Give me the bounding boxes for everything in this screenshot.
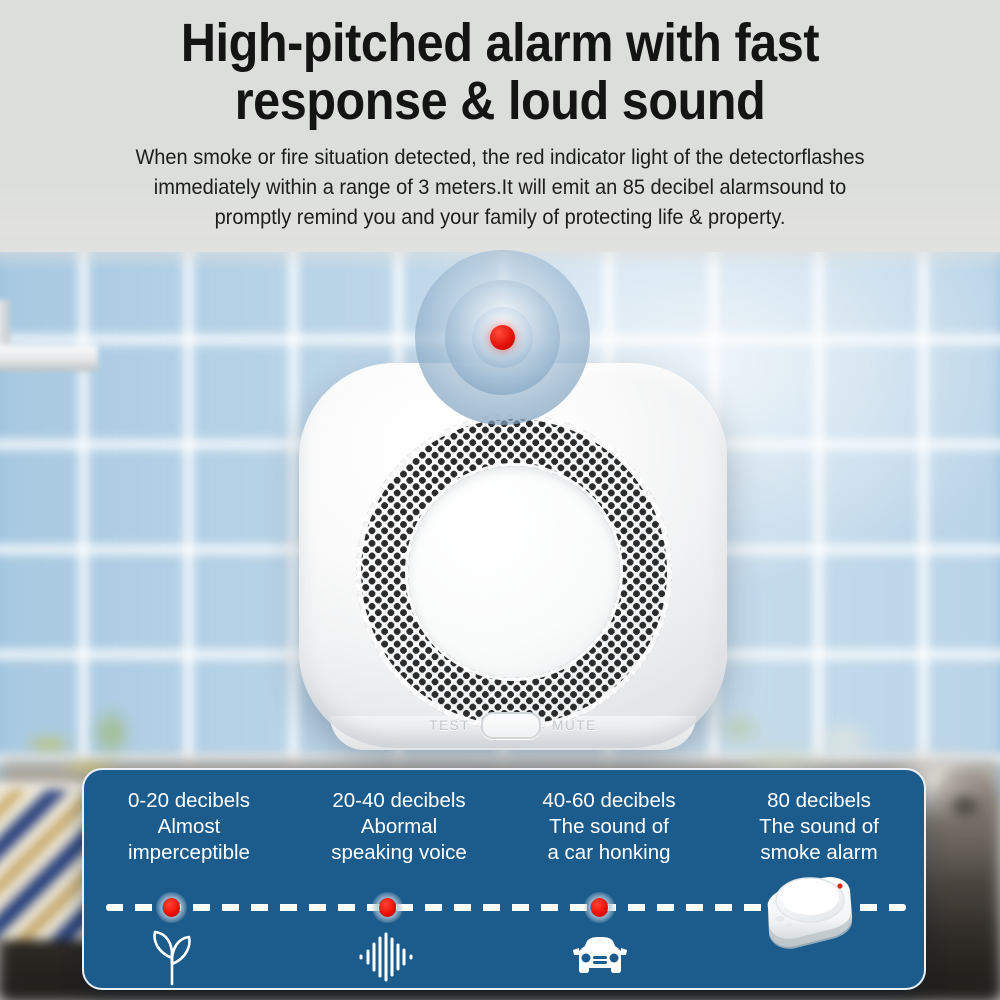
decibel-range-2: 20-40 decibels (294, 788, 504, 814)
decibel-desc-2a: Abormal (294, 814, 504, 840)
red-indicator-light (490, 325, 515, 350)
decibel-timeline (84, 882, 924, 988)
decibel-column-3: 40-60 decibels The sound of a car honkin… (504, 788, 714, 878)
detector-grille (356, 414, 672, 730)
leaf-icon (137, 928, 207, 986)
test-label: TEST (429, 718, 470, 733)
decibel-range-4: 80 decibels (714, 788, 924, 814)
scale-node-1 (156, 892, 187, 923)
detector-center-disc (408, 466, 620, 678)
decibel-column-1: 0-20 decibels Almost imperceptible (84, 788, 294, 878)
decibel-desc-1b: imperceptible (84, 840, 294, 866)
sound-wave-icon (353, 928, 423, 986)
page-title: High-pitched alarm with fast response & … (95, 14, 905, 130)
decibel-scale-panel: 0-20 decibels Almost imperceptible 20-40… (82, 768, 926, 990)
wall-shelf (0, 345, 98, 371)
decibel-desc-3b: a car honking (504, 840, 714, 866)
smoke-alarm-icon (752, 864, 864, 960)
description-line-3: promptly remind you and your family of p… (215, 205, 786, 229)
decibel-desc-2b: speaking voice (294, 840, 504, 866)
description-line-1: When smoke or fire situation detected, t… (135, 145, 864, 169)
infographic-stage: High-pitched alarm with fast response & … (0, 0, 1000, 1000)
description-line-2: immediately within a range of 3 meters.I… (154, 175, 846, 199)
decibel-desc-4b: smoke alarm (714, 840, 924, 866)
scale-node-3 (584, 892, 615, 923)
mute-label: MUTE (552, 718, 597, 733)
car-icon (565, 928, 635, 986)
decibel-range-3: 40-60 decibels (504, 788, 714, 814)
decibel-desc-1a: Almost (84, 814, 294, 840)
decibel-column-2: 20-40 decibels Abormal speaking voice (294, 788, 504, 878)
detector-control-row: TEST MUTE (299, 708, 727, 742)
decibel-desc-3a: The sound of (504, 814, 714, 840)
page-description: When smoke or fire situation detected, t… (128, 142, 872, 232)
alarm-ripple-indicator (415, 250, 590, 425)
decibel-range-1: 0-20 decibels (84, 788, 294, 814)
utensil-right (930, 770, 1000, 890)
test-mute-button[interactable] (481, 712, 541, 739)
title-line-2: response & loud sound (235, 71, 766, 131)
title-line-1: High-pitched alarm with fast (181, 13, 819, 73)
scale-node-2 (372, 892, 403, 923)
decibel-desc-4a: The sound of (714, 814, 924, 840)
